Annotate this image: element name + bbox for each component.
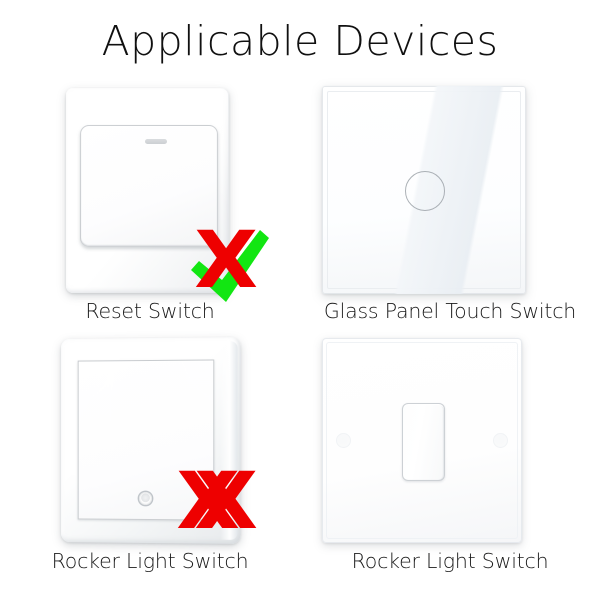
screw-cover-icon-left [336,433,351,448]
rocker-paddle [402,403,445,481]
device-image-rocker-light-switch-plate [300,330,600,552]
device-label-rocker-light-switch-plate: Rocker Light Switch [300,549,600,573]
screw-cover-icon-right [493,433,508,448]
device-cell-glass-panel-touch-switch[interactable]: Glass Panel Touch Switch [300,80,600,338]
glass-panel-faceplate [322,86,526,294]
page-title: Applicable Devices [0,20,600,63]
cross-icon-glass-panel-touch-switch: X [194,222,256,300]
applicable-devices-page: Applicable Devices Reset Switch [0,0,600,600]
led-indicator-icon [139,492,152,505]
reset-switch-indicator-icon [145,139,167,144]
touch-circle-icon [405,171,445,211]
device-label-glass-panel-touch-switch: Glass Panel Touch Switch [300,299,600,323]
device-grid: Reset Switch Glass Panel Touch Switch [0,80,600,596]
rocker-plate-faceplate [322,338,522,543]
device-image-glass-panel-touch-switch [300,80,600,302]
cross-icon-rocker-light-switch-plate: X [194,463,256,541]
device-cell-rocker-light-switch-plate[interactable]: Rocker Light Switch [300,330,600,588]
device-label-rocker-light-switch-framed: Rocker Light Switch [0,549,300,573]
